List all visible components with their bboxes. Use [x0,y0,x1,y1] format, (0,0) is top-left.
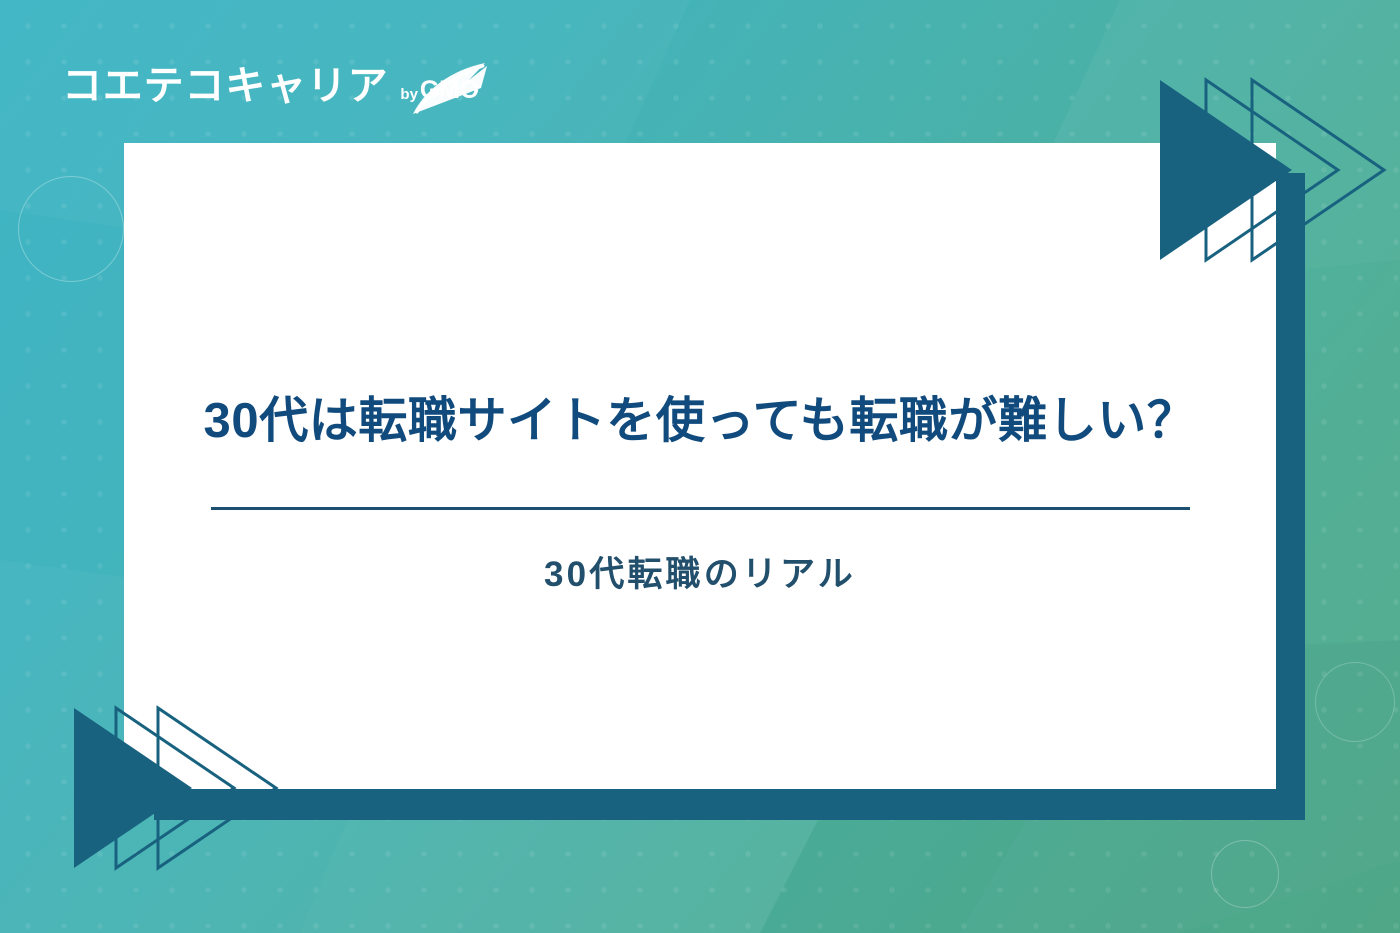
circle-outline-left [18,176,124,282]
content-card: 30代は転職サイトを使っても転職が難しい？ 30代転職のリアル [124,143,1276,789]
play-triangle-trio-top-right [1140,70,1340,270]
page-subtitle: 30代転職のリアル [124,546,1276,597]
play-triangle-trio-bottom-left [58,700,278,880]
page-title: 30代は転職サイトを使っても転職が難しい？ [124,393,1276,451]
thumbnail-canvas: 30代は転職サイトを使っても転職が難しい？ 30代転職のリアル コエテコキャリア [0,0,1400,933]
title-divider [211,507,1190,510]
brand-logo[interactable]: コエテコキャリア by GMO [62,44,479,106]
circle-outline-right [1315,662,1395,742]
logo-brand-text: コエテコキャリア [62,66,388,106]
circle-outline-bottom-right [1211,840,1279,908]
logo-wordmark: コエテコキャリア [62,66,388,106]
arrow-swoosh-icon [407,60,497,116]
